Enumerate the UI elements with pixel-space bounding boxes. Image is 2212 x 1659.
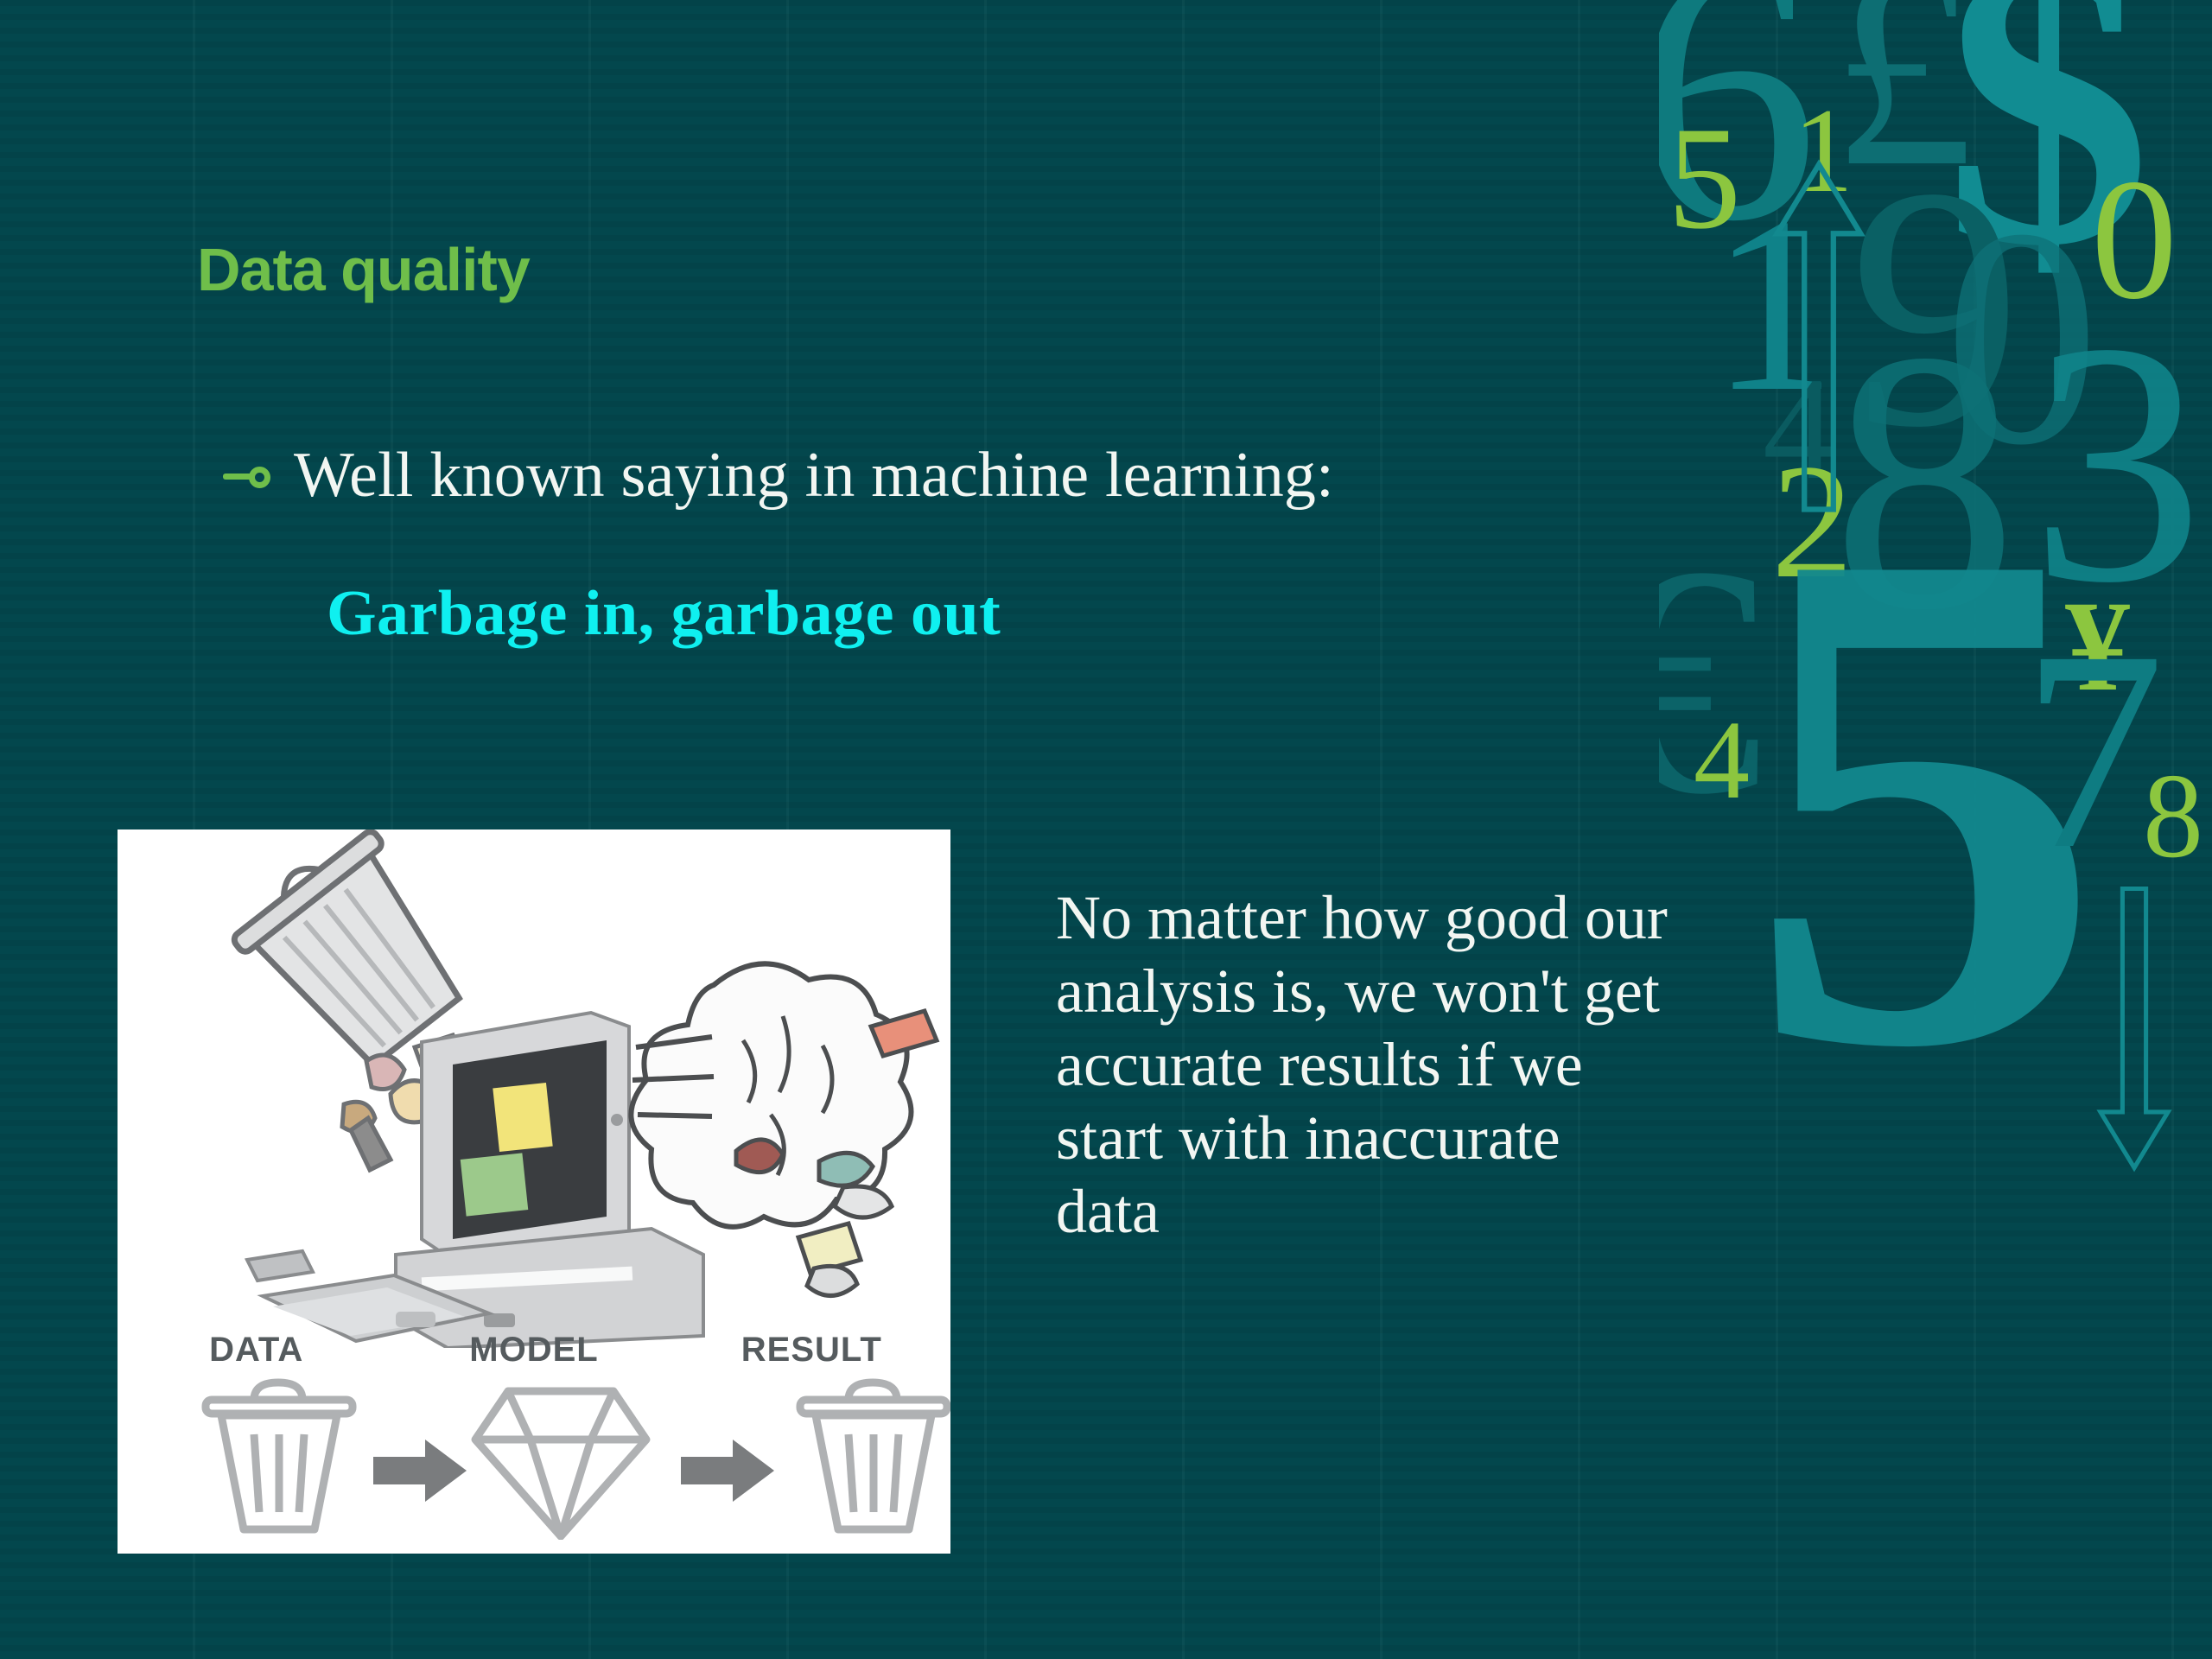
- decor-dollar-symbol: $: [1944, 0, 2152, 263]
- trash-can-icon: [206, 1382, 353, 1529]
- decor-euro-symbol: €: [1659, 553, 1763, 809]
- dash-circle-bullet-icon: [223, 463, 275, 489]
- decor-digit-2-green: 2: [1771, 458, 1853, 586]
- presentation-slide: 6£$5101904832€5¥748 Data quality Well kn…: [0, 0, 2212, 1659]
- flow-labels: DATAMODELRESULT: [118, 1331, 950, 1370]
- trash-can-icon: [800, 1382, 947, 1529]
- decor-arrow-down-icon: [2095, 881, 2173, 1175]
- decor-digit-8: 8: [1832, 337, 2018, 626]
- slogan-text: Garbage in, garbage out: [327, 577, 1001, 651]
- decor-digit-1-teal: 1: [1711, 207, 1836, 403]
- bullet-item: Well known saying in machine learning:: [223, 439, 1334, 512]
- decor-yen-symbol: ¥: [2065, 596, 2130, 697]
- decorative-numbers-panel: 6£$5101904832€5¥748: [1659, 0, 2212, 1659]
- decor-digit-4-dim: 4: [1763, 372, 1836, 486]
- flow-label-data: DATA: [119, 1331, 394, 1370]
- flow-icons: [118, 1376, 950, 1540]
- decor-digit-4-green: 4: [1694, 717, 1750, 804]
- flow-label-model: MODEL: [397, 1331, 671, 1370]
- diamond-gem-icon: [475, 1391, 646, 1536]
- data-model-result-flow: DATAMODELRESULT: [118, 1331, 950, 1547]
- decor-digit-0-teal: 0: [1944, 216, 2100, 459]
- decor-digit-6: 6: [1659, 0, 1819, 238]
- decor-pound-symbol: £: [1832, 0, 1974, 179]
- decor-digit-1-green: 1: [1793, 104, 1853, 198]
- decor-digit-5-small: 5: [1668, 121, 1741, 236]
- decor-digit-0-green: 0: [2091, 173, 2177, 308]
- decor-digit-9: 9: [1849, 173, 2022, 442]
- flow-label-result: RESULT: [674, 1331, 949, 1370]
- decor-digit-3: 3: [2031, 328, 2203, 598]
- bullet-item-label: Well known saying in machine learning:: [294, 439, 1334, 512]
- decor-digit-5-large: 5: [1745, 518, 2104, 1077]
- arrow-right-icon: [373, 1440, 467, 1502]
- garbage-in-garbage-out-figure: DATAMODELRESULT: [118, 829, 950, 1554]
- page-title: Data quality: [197, 235, 530, 304]
- decor-arrow-up-icon: [1771, 156, 1866, 518]
- explanation-paragraph: No matter how good our analysis is, we w…: [1056, 881, 1678, 1249]
- decor-digit-7: 7: [2022, 639, 2164, 861]
- decor-digit-8-green: 8: [2143, 769, 2203, 863]
- arrow-right-icon: [681, 1440, 774, 1502]
- computer-garbage-illustration: [118, 829, 950, 1348]
